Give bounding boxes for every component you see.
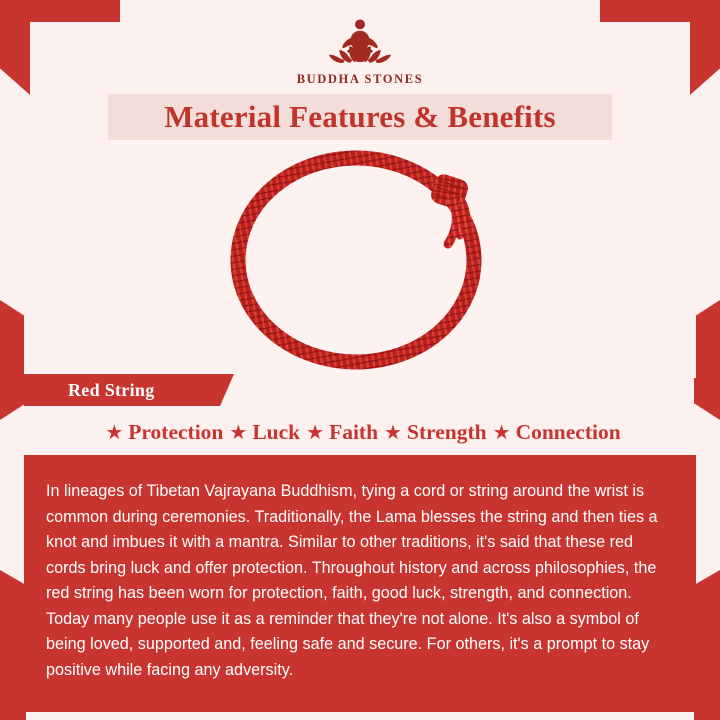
keyword-item-luck: ★ Luck [223,420,300,445]
page-title-banner: Material Features & Benefits [108,94,612,140]
lotus-meditation-icon [312,14,408,70]
keyword-item-protection: ★ Protection [99,420,223,445]
description-panel: In lineages of Tibetan Vajrayana Buddhis… [24,455,696,712]
keyword-label: Protection [128,420,223,445]
infographic-page: BUDDHA STONES Material Features & Benefi… [0,0,720,720]
product-label-ribbon: Red String [24,374,234,406]
brand-logo: BUDDHA STONES [0,14,720,87]
keyword-label: Connection [516,420,621,445]
product-image [24,140,696,378]
star-icon: ★ [105,423,123,443]
star-icon: ★ [229,423,247,443]
keyword-item-faith: ★ Faith [300,420,378,445]
keyword-item-strength: ★ Strength [378,420,487,445]
keyword-item-connection: ★ Connection [487,420,621,445]
brand-name: BUDDHA STONES [0,72,720,87]
star-icon: ★ [384,423,402,443]
star-icon: ★ [493,423,511,443]
keyword-label: Strength [407,420,487,445]
description-text: In lineages of Tibetan Vajrayana Buddhis… [46,479,674,683]
keyword-label: Luck [252,420,300,445]
star-icon: ★ [306,423,324,443]
benefit-keywords: ★ Protection ★ Luck ★ Faith ★ Strength ★… [30,420,690,445]
page-title: Material Features & Benefits [164,99,556,135]
keyword-label: Faith [329,420,378,445]
red-braided-string-bracelet-icon [160,140,560,372]
product-label: Red String [68,380,155,401]
